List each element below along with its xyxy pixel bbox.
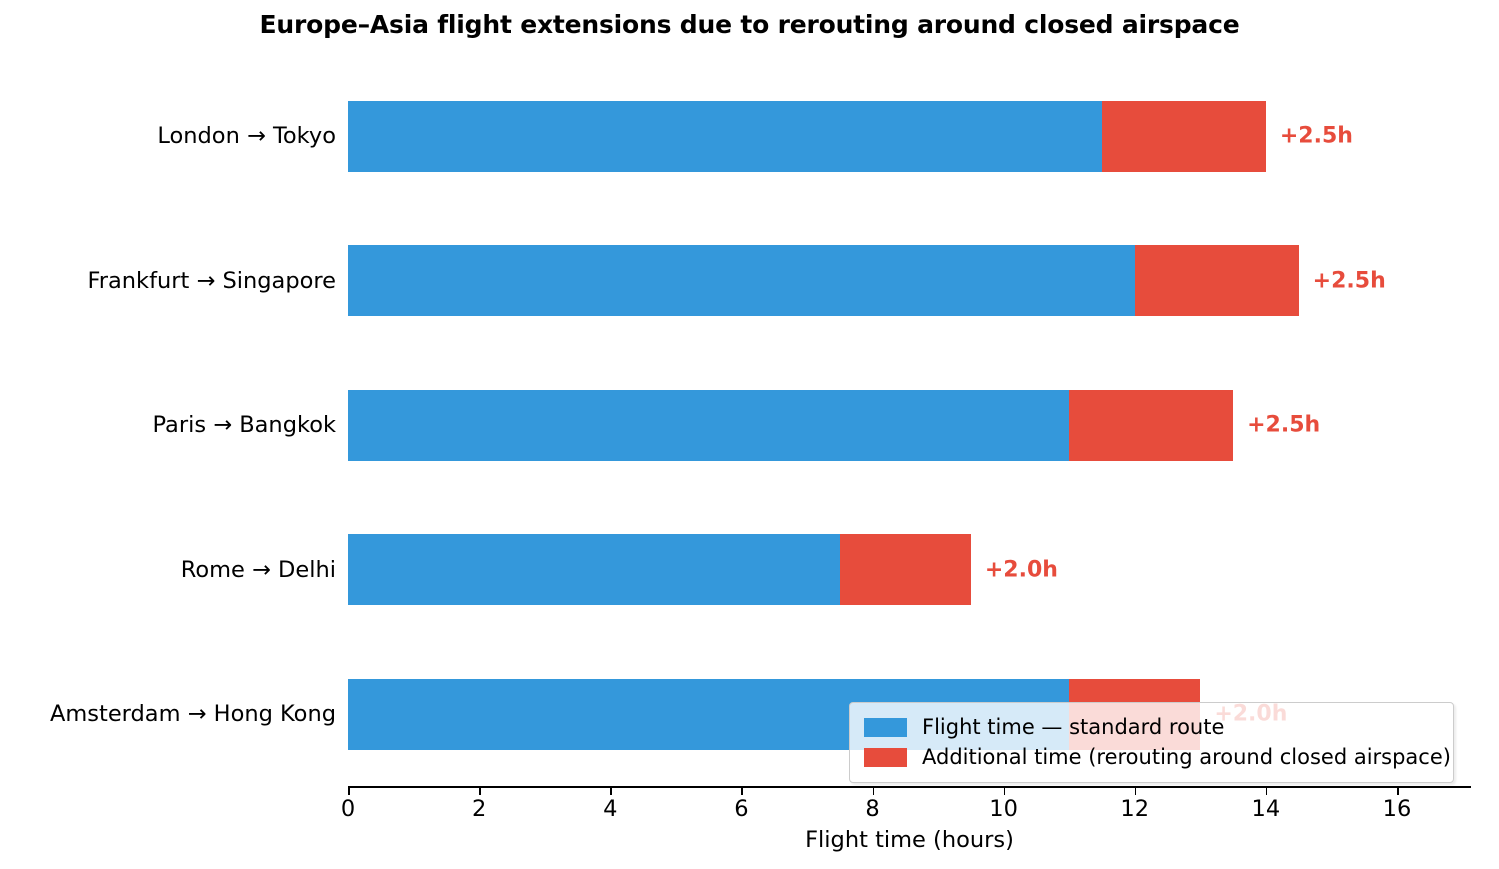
bar-value-label: +2.5h <box>1247 413 1320 438</box>
bar-value-label: +2.0h <box>985 557 1058 582</box>
bar-segment-standard[interactable] <box>348 534 840 605</box>
bar-segment-additional[interactable] <box>1069 390 1233 461</box>
bar-segment-additional[interactable] <box>1135 245 1299 316</box>
x-axis-line <box>348 786 1471 788</box>
x-tick-mark <box>610 788 612 795</box>
y-tick-label: Frankfurt → Singapore <box>87 268 336 294</box>
bar-row: +2.5h <box>348 390 1462 461</box>
bar-row: +2.5h <box>348 245 1462 316</box>
y-tick-label: Rome → Delhi <box>181 557 336 583</box>
plot-area: +2.5h+2.5h+2.5h+2.0h+2.0h <box>348 85 1462 786</box>
x-tick-label: 12 <box>1120 796 1149 822</box>
y-tick-label: London → Tokyo <box>157 123 336 149</box>
bar-row: +2.5h <box>348 101 1462 172</box>
bar-value-label: +2.5h <box>1280 124 1353 149</box>
x-tick-label: 0 <box>341 796 355 822</box>
chart-figure: Europe–Asia flight extensions due to rer… <box>0 0 1499 869</box>
y-tick-label: Amsterdam → Hong Kong <box>50 701 336 727</box>
x-tick-label: 14 <box>1252 796 1281 822</box>
legend-label-standard: Flight time — standard route <box>922 715 1224 739</box>
chart-title: Europe–Asia flight extensions due to rer… <box>0 10 1499 39</box>
legend-label-additional: Additional time (rerouting around closed… <box>922 745 1451 769</box>
x-tick-mark <box>1266 788 1268 795</box>
x-tick-mark <box>1397 788 1399 795</box>
x-tick-label: 4 <box>603 796 617 822</box>
bar-segment-additional[interactable] <box>1102 101 1266 172</box>
y-tick-label: Paris → Bangkok <box>152 412 336 438</box>
bar-value-label: +2.5h <box>1313 268 1386 293</box>
x-tick-label: 2 <box>472 796 486 822</box>
x-axis-title: Flight time (hours) <box>348 827 1471 853</box>
bar-row: +2.0h <box>348 534 1462 605</box>
x-tick-mark <box>741 788 743 795</box>
legend-entry-additional: Additional time (rerouting around closed… <box>864 742 1439 772</box>
x-tick-label: 6 <box>734 796 748 822</box>
x-tick-mark <box>348 788 350 795</box>
x-tick-mark <box>1135 788 1137 795</box>
x-tick-label: 16 <box>1383 796 1412 822</box>
bar-segment-additional[interactable] <box>840 534 971 605</box>
x-tick-mark <box>1004 788 1006 795</box>
legend-entry-standard: Flight time — standard route <box>864 712 1439 742</box>
x-tick-mark <box>479 788 481 795</box>
bar-segment-standard[interactable] <box>348 101 1102 172</box>
x-tick-mark <box>873 788 875 795</box>
legend-swatch-additional <box>864 748 907 767</box>
legend-swatch-standard <box>864 718 907 737</box>
bar-segment-standard[interactable] <box>348 390 1069 461</box>
x-tick-label: 8 <box>865 796 879 822</box>
x-tick-label: 10 <box>989 796 1018 822</box>
bar-segment-standard[interactable] <box>348 245 1135 316</box>
chart-legend: Flight time — standard route Additional … <box>849 702 1454 783</box>
